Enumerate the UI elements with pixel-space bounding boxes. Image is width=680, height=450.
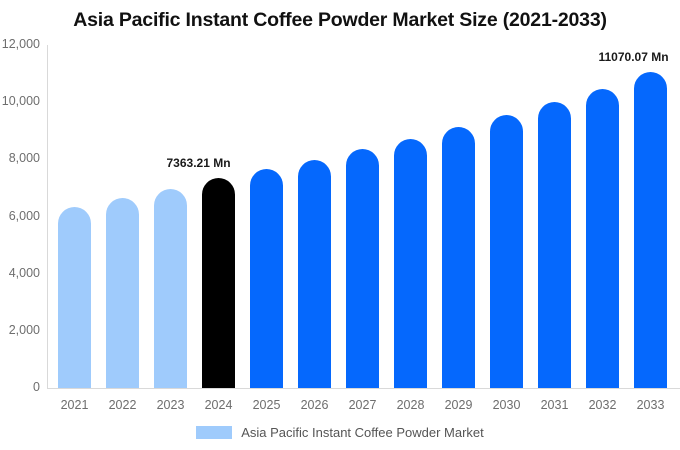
bar-2023[interactable] (154, 189, 187, 389)
chart-legend: Asia Pacific Instant Coffee Powder Marke… (0, 425, 680, 440)
bar-2026[interactable] (298, 160, 331, 388)
data-label-2024: 7363.21 Mn (167, 156, 231, 170)
bar-2025[interactable] (250, 169, 283, 388)
x-axis-tick-label-2030: 2030 (483, 398, 531, 412)
bar-2032[interactable] (586, 89, 619, 388)
x-axis-tick-label-2026: 2026 (291, 398, 339, 412)
y-axis-tick-label: 8,000 (0, 151, 40, 165)
bar-2029[interactable] (442, 127, 475, 388)
bar-2021[interactable] (58, 207, 91, 388)
bar-2030[interactable] (490, 115, 523, 388)
y-axis-tick-label: 10,000 (0, 94, 40, 108)
x-axis-tick-label-2032: 2032 (579, 398, 627, 412)
y-axis-tick-label: 4,000 (0, 266, 40, 280)
legend-swatch-icon (196, 426, 232, 439)
x-axis-tick-label-2021: 2021 (51, 398, 99, 412)
chart-container: Asia Pacific Instant Coffee Powder Marke… (0, 0, 680, 450)
legend-item[interactable]: Asia Pacific Instant Coffee Powder Marke… (196, 425, 484, 440)
x-axis-tick-label-2025: 2025 (243, 398, 291, 412)
x-axis-tick-label-2029: 2029 (435, 398, 483, 412)
x-axis-tick-label-2031: 2031 (531, 398, 579, 412)
y-axis-tick-label: 2,000 (0, 323, 40, 337)
x-axis-tick-label-2028: 2028 (387, 398, 435, 412)
bar-2027[interactable] (346, 149, 379, 388)
x-axis-tick-label-2024: 2024 (195, 398, 243, 412)
x-axis-tick-label-2027: 2027 (339, 398, 387, 412)
bar-2028[interactable] (394, 139, 427, 388)
chart-title: Asia Pacific Instant Coffee Powder Marke… (0, 9, 680, 32)
x-axis-tick-label-2022: 2022 (99, 398, 147, 412)
x-axis-line (47, 388, 680, 389)
bar-2022[interactable] (106, 198, 139, 388)
bar-2031[interactable] (538, 102, 571, 388)
bar-2033[interactable] (634, 72, 667, 388)
y-axis-tick-label: 0 (0, 380, 40, 394)
plot-area (47, 45, 680, 388)
y-axis-tick-label: 12,000 (0, 37, 40, 51)
legend-item-label: Asia Pacific Instant Coffee Powder Marke… (241, 425, 484, 440)
bar-2024[interactable] (202, 178, 235, 388)
data-label-2033: 11070.07 Mn (599, 50, 669, 64)
x-axis-tick-label-2033: 2033 (627, 398, 675, 412)
y-axis-tick-label: 6,000 (0, 209, 40, 223)
x-axis-tick-label-2023: 2023 (147, 398, 195, 412)
